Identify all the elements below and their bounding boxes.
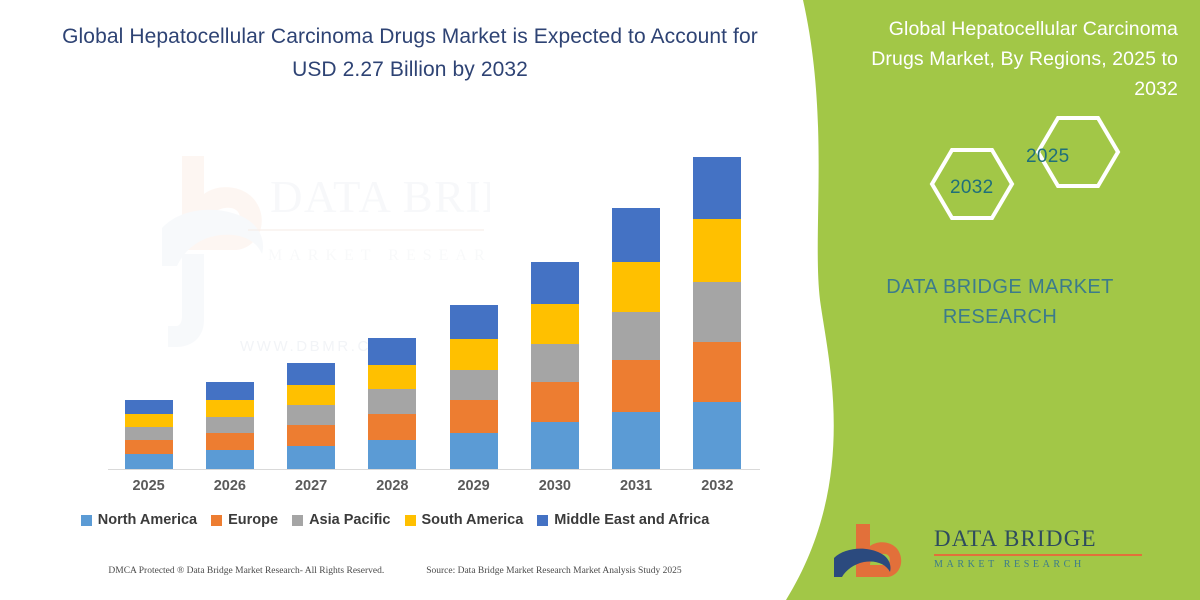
hexagon-group: 2025 2032	[920, 110, 1130, 235]
bar-2028	[368, 338, 416, 470]
footer: DMCA Protected ® Data Bridge Market Rese…	[0, 566, 790, 576]
bar-segment	[125, 427, 173, 440]
panel-brand-text: DATA BRIDGE MARKET RESEARCH	[800, 272, 1200, 332]
bar-segment	[125, 440, 173, 454]
bar-segment	[206, 382, 254, 400]
bar-segment	[612, 208, 660, 262]
bar-segment	[206, 417, 254, 433]
bar-segment	[287, 385, 335, 405]
bar-segment	[531, 304, 579, 344]
bar-2029	[450, 305, 498, 470]
bar-chart-plot	[108, 140, 758, 470]
x-label-2025: 2025	[109, 478, 189, 494]
legend-swatch-icon	[211, 515, 222, 526]
legend-swatch-icon	[292, 515, 303, 526]
legend-label: South America	[422, 512, 524, 528]
bar-segment	[693, 282, 741, 342]
panel-title: Global Hepatocellular Carcinoma Drugs Ma…	[838, 14, 1178, 104]
bar-2025	[125, 400, 173, 470]
bar-segment	[368, 338, 416, 365]
legend-item-south-america[interactable]: South America	[405, 512, 524, 528]
x-label-2027: 2027	[271, 478, 351, 494]
x-label-2026: 2026	[190, 478, 270, 494]
legend-swatch-icon	[537, 515, 548, 526]
bar-segment	[450, 370, 498, 400]
bar-segment	[693, 402, 741, 470]
chart-title: Global Hepatocellular Carcinoma Drugs Ma…	[60, 20, 760, 86]
legend-label: Asia Pacific	[309, 512, 390, 528]
x-axis-line	[108, 469, 760, 470]
footer-copyright: DMCA Protected ® Data Bridge Market Rese…	[108, 566, 384, 576]
hex-2032-label: 2032	[950, 177, 993, 199]
legend-item-asia-pacific[interactable]: Asia Pacific	[292, 512, 390, 528]
bar-segment	[125, 414, 173, 427]
x-label-2030: 2030	[515, 478, 595, 494]
legend-item-middle-east-and-africa[interactable]: Middle East and Africa	[537, 512, 709, 528]
x-label-2031: 2031	[596, 478, 676, 494]
bar-segment	[368, 389, 416, 414]
bar-segment	[693, 342, 741, 402]
bar-segment	[287, 425, 335, 446]
hex-2025-label: 2025	[1026, 146, 1069, 168]
infographic-root: Global Hepatocellular Carcinoma Drugs Ma…	[0, 0, 1200, 600]
legend-label: Europe	[228, 512, 278, 528]
bar-segment	[693, 219, 741, 282]
bar-segment	[125, 454, 173, 470]
bar-segment	[612, 262, 660, 312]
x-axis-labels: 20252026202720282029203020312032	[108, 478, 760, 502]
logo-mark-icon	[826, 520, 926, 580]
legend-label: Middle East and Africa	[554, 512, 709, 528]
bar-segment	[287, 405, 335, 425]
bar-segment	[206, 400, 254, 417]
bar-segment	[450, 305, 498, 339]
bar-2031	[612, 208, 660, 470]
bar-segment	[531, 262, 579, 304]
bar-segment	[531, 344, 579, 382]
x-label-2028: 2028	[352, 478, 432, 494]
bar-segment	[450, 339, 498, 370]
bar-segment	[287, 446, 335, 470]
bar-segment	[450, 400, 498, 433]
x-label-2029: 2029	[434, 478, 514, 494]
x-label-2032: 2032	[677, 478, 757, 494]
bar-segment	[693, 157, 741, 219]
bar-segment	[206, 450, 254, 470]
bar-segment	[612, 312, 660, 360]
bar-segment	[368, 414, 416, 440]
logo-wordmark: DATA BRIDGE MARKET RESEARCH	[934, 526, 1164, 570]
bar-2032	[693, 157, 741, 470]
chart-legend: North AmericaEuropeAsia PacificSouth Ame…	[0, 512, 790, 528]
bar-segment	[531, 382, 579, 422]
bar-segment	[450, 433, 498, 470]
green-panel-content: Global Hepatocellular Carcinoma Drugs Ma…	[800, 0, 1200, 600]
footer-source: Source: Data Bridge Market Research Mark…	[426, 566, 681, 576]
bar-2030	[531, 262, 579, 470]
legend-swatch-icon	[81, 515, 92, 526]
logo-sub-text: MARKET RESEARCH	[934, 559, 1164, 570]
bar-segment	[287, 363, 335, 385]
bar-segment	[125, 400, 173, 414]
bar-2027	[287, 363, 335, 470]
data-bridge-logo: DATA BRIDGE MARKET RESEARCH	[826, 520, 1176, 582]
bar-2026	[206, 382, 254, 470]
legend-label: North America	[98, 512, 197, 528]
bar-segment	[531, 422, 579, 470]
bar-segment	[612, 412, 660, 470]
legend-swatch-icon	[405, 515, 416, 526]
legend-item-europe[interactable]: Europe	[211, 512, 278, 528]
bar-segment	[368, 440, 416, 470]
legend-item-north-america[interactable]: North America	[81, 512, 197, 528]
bar-segment	[612, 360, 660, 412]
logo-main-text: DATA BRIDGE	[934, 526, 1164, 552]
logo-divider	[934, 554, 1142, 556]
bar-segment	[206, 433, 254, 450]
bar-segment	[368, 365, 416, 389]
